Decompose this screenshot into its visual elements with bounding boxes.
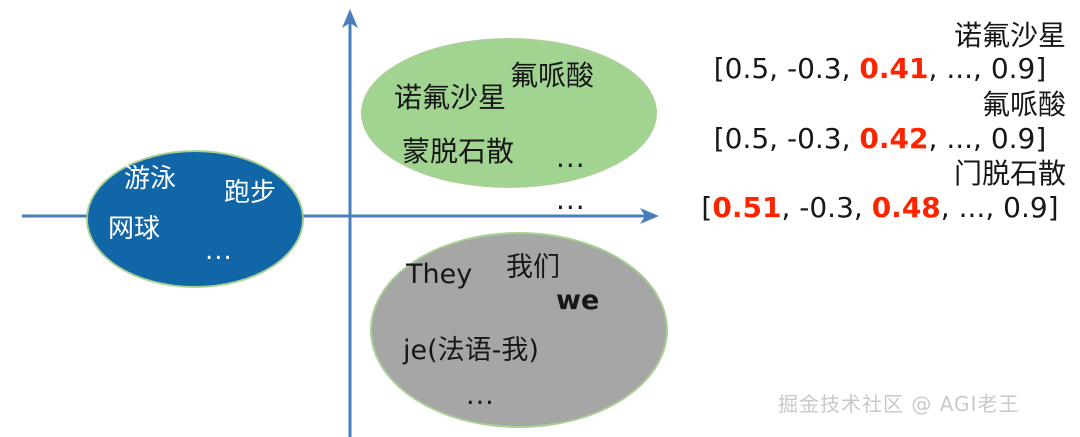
vector-bracket-close: ] [1035,122,1046,155]
vector-value: -0.3 [799,191,854,224]
vector-bracket-open: [ [701,191,712,224]
token-they: They [406,261,472,288]
vector-separator: , [985,191,1003,224]
diagram-canvas: 游泳 跑步 网球 ... 诺氟沙星 氟哌酸 蒙脱石散 ... ... They … [0,0,1080,437]
vector-separator: , [941,191,959,224]
vector-label: 氟哌酸 [690,89,1070,120]
token-run: 跑步 [224,180,276,206]
vector-values: [0.51, -0.3, 0.48, ..., 0.9] [690,190,1070,226]
token-swim: 游泳 [124,166,176,192]
token-sports-ellipsis: ... [205,238,233,264]
vector-value: 0.9 [991,52,1036,85]
token-women: 我们 [506,254,560,281]
token-fupeisuan: 氟哌酸 [510,62,594,90]
token-pronouns-ellipsis: ... [466,382,495,409]
vector-value-highlighted: 0.51 [712,191,781,224]
token-tennis: 网球 [108,216,160,242]
vector-value: 0.5 [725,122,770,155]
vector-entry: 门脱石散 [0.51, -0.3, 0.48, ..., 0.9] [690,158,1070,225]
vector-value: 0.5 [725,52,770,85]
vector-value: 0.9 [991,122,1036,155]
vector-values: [0.5, -0.3, 0.42, ..., 0.9] [690,121,1070,157]
vector-separator: , [973,52,991,85]
vector-value: ... [946,122,973,155]
token-outside-ellipsis: ... [556,186,586,214]
vector-separator: , [842,122,860,155]
token-je-french: je(法语-我) [403,337,539,364]
token-medicine-ellipsis: ... [556,144,586,172]
vector-bracket-close: ] [1048,191,1059,224]
token-montmorillonite: 蒙脱石散 [402,138,514,166]
vector-value-highlighted: 0.41 [859,52,928,85]
vector-bracket-close: ] [1035,52,1046,85]
vector-separator: , [929,122,947,155]
vector-label: 诺氟沙星 [690,20,1070,51]
vector-entry: 诺氟沙星 [0.5, -0.3, 0.41, ..., 0.9] [690,20,1070,87]
vector-value: 0.9 [1003,191,1048,224]
vector-separator: , [781,191,799,224]
vector-separator: , [854,191,872,224]
token-we: we [556,287,599,314]
x-axis-arrowhead [640,208,659,224]
vector-value: -0.3 [787,52,842,85]
vector-value-highlighted: 0.42 [859,122,928,155]
token-norfloxacin: 诺氟沙星 [394,84,506,112]
vector-entry: 氟哌酸 [0.5, -0.3, 0.42, ..., 0.9] [690,89,1070,156]
vector-separator: , [929,52,947,85]
vector-value-highlighted: 0.48 [872,191,941,224]
vector-separator: , [842,52,860,85]
vector-bracket-open: [ [714,52,725,85]
vector-bracket-open: [ [714,122,725,155]
vector-separator: , [973,122,991,155]
vector-value: ... [946,52,973,85]
vector-value: -0.3 [787,122,842,155]
y-axis-arrowhead [342,9,358,28]
vector-separator: , [769,52,787,85]
vector-value: ... [959,191,986,224]
watermark: 掘金技术社区 @ AGI老王 [778,388,1019,417]
vector-panel: 诺氟沙星 [0.5, -0.3, 0.41, ..., 0.9] 氟哌酸 [0.… [690,20,1070,228]
vector-values: [0.5, -0.3, 0.41, ..., 0.9] [690,51,1070,87]
vector-separator: , [769,122,787,155]
vector-label: 门脱石散 [690,158,1070,189]
